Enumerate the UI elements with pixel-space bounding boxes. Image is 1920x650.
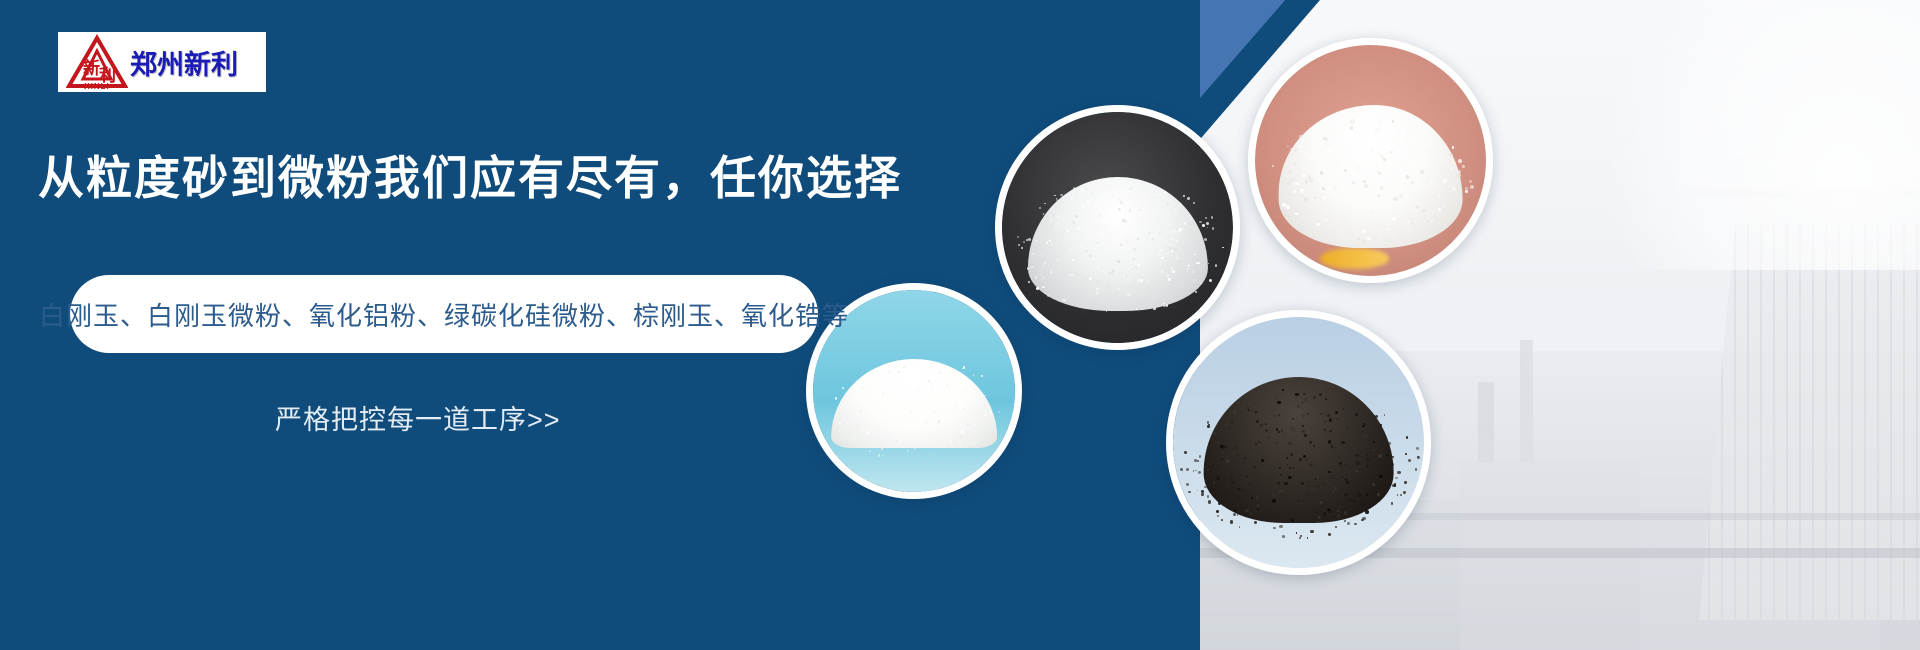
grain-speck — [1211, 216, 1214, 219]
grain-speck — [1148, 232, 1150, 234]
grain-speck — [1142, 290, 1145, 293]
tagline-cta[interactable]: 严格把控每一道工序>> — [275, 398, 561, 437]
grain-speck — [1375, 128, 1379, 132]
grain-speck — [965, 390, 967, 392]
grain-speck — [1310, 530, 1313, 533]
grain-speck — [1021, 247, 1023, 249]
grain-speck — [869, 450, 871, 452]
grain-speck — [1172, 270, 1175, 273]
grain-speck — [851, 422, 853, 424]
grain-speck — [1344, 511, 1347, 514]
grain-speck — [1290, 148, 1292, 150]
grain-speck — [1406, 436, 1409, 439]
grain-speck — [1392, 120, 1395, 123]
grain-speck — [1329, 463, 1331, 465]
grain-speck — [1376, 117, 1378, 119]
grain-speck — [1075, 272, 1078, 275]
grain-speck — [925, 422, 928, 425]
grain-speck — [1392, 217, 1396, 221]
grain-speck — [1322, 456, 1324, 458]
grain-speck — [1106, 284, 1109, 287]
grain-speck — [863, 435, 864, 436]
grain-speck — [1207, 425, 1209, 427]
grain-speck — [1299, 458, 1302, 461]
product-list-pill: 白刚玉、白刚玉微粉、氧化铝粉、绿碳化硅微粉、棕刚玉、氧化锆等 — [70, 275, 818, 353]
grain-speck — [1140, 187, 1142, 189]
grain-speck — [1064, 225, 1066, 227]
grain-speck — [1241, 489, 1243, 491]
grain-speck — [1430, 181, 1433, 184]
company-name-text: 郑州新利 — [130, 43, 238, 82]
grain-speck — [1371, 160, 1374, 163]
grain-speck — [1167, 275, 1169, 277]
grain-speck — [1054, 195, 1056, 197]
grain-speck — [1168, 278, 1171, 281]
grain-speck — [878, 454, 880, 456]
grain-speck — [1193, 202, 1195, 204]
grain-speck — [903, 366, 905, 368]
grain-speck — [1217, 515, 1219, 517]
grain-speck — [1377, 194, 1380, 197]
grain-speck — [1226, 483, 1228, 485]
grain-speck — [1059, 245, 1061, 247]
grain-speck — [1279, 467, 1280, 468]
grain-speck — [1113, 225, 1116, 228]
grain-speck — [1258, 484, 1260, 486]
grain-speck — [928, 380, 930, 382]
grain-speck — [1355, 454, 1358, 457]
grain-speck — [1330, 430, 1331, 431]
grain-speck — [1452, 161, 1455, 164]
grain-speck — [1384, 414, 1385, 415]
grain-speck — [1121, 250, 1123, 252]
grain-speck — [1412, 192, 1414, 194]
grain-speck — [959, 441, 961, 443]
grain-speck — [1413, 164, 1416, 167]
grain-speck — [1245, 509, 1248, 512]
grain-speck — [1137, 264, 1140, 267]
grain-speck — [1254, 521, 1257, 524]
grain-speck — [1314, 197, 1316, 199]
grain-speck — [1226, 459, 1229, 462]
grain-speck — [1207, 495, 1210, 498]
grain-speck — [1289, 171, 1292, 174]
grain-speck — [1204, 486, 1207, 489]
grain-speck — [1373, 449, 1375, 451]
grain-speck — [1392, 456, 1394, 458]
grain-speck — [1155, 296, 1158, 299]
grain-speck — [1051, 244, 1052, 245]
grain-speck — [1116, 219, 1119, 222]
grain-speck — [1187, 197, 1190, 200]
grain-speck — [1199, 221, 1202, 224]
grain-speck — [1379, 475, 1382, 478]
grain-speck — [909, 368, 910, 369]
product-list-text: 白刚玉、白刚玉微粉、氧化铝粉、绿碳化硅微粉、棕刚玉、氧化锆等 — [39, 296, 849, 333]
grain-speck — [1286, 205, 1290, 209]
grain-speck — [1294, 148, 1297, 151]
grain-speck — [1224, 504, 1226, 506]
grain-speck — [1361, 519, 1364, 522]
grain-speck — [1346, 481, 1349, 484]
grain-speck — [1174, 248, 1177, 251]
grain-speck — [1044, 203, 1046, 205]
grain-speck — [1035, 276, 1037, 278]
grain-speck — [1140, 279, 1143, 282]
grain-speck — [1376, 165, 1378, 167]
grain-speck — [1415, 468, 1418, 471]
grain-speck — [1443, 179, 1446, 182]
grain-speck — [1368, 133, 1370, 135]
grain-speck — [1388, 171, 1390, 173]
grain-speck — [984, 395, 986, 397]
grain-speck — [1320, 171, 1324, 175]
grain-speck — [1337, 172, 1339, 174]
grain-speck — [1165, 258, 1167, 260]
grain-speck — [1282, 535, 1285, 538]
grain-speck — [943, 429, 945, 431]
grain-speck — [835, 397, 837, 399]
svg-text:XINLI: XINLI — [84, 82, 109, 90]
grain-speck — [908, 426, 909, 427]
grain-speck — [1288, 442, 1291, 445]
grain-speck — [1390, 151, 1392, 153]
grain-speck — [1236, 453, 1239, 456]
grain-speck — [932, 433, 933, 434]
grain-speck — [1215, 265, 1217, 267]
grain-speck — [1255, 411, 1257, 413]
grain-speck — [1403, 491, 1406, 494]
grain-speck — [842, 387, 844, 389]
grain-speck — [1028, 281, 1030, 283]
grain-speck — [1295, 213, 1297, 215]
grain-speck — [1335, 526, 1337, 528]
product-photo-white-micropowder — [1255, 45, 1486, 276]
grain-speck — [1364, 184, 1368, 188]
grain-speck — [1287, 182, 1290, 185]
plate-accent — [1320, 248, 1389, 269]
grain-speck — [1193, 279, 1196, 282]
grain-speck — [1141, 220, 1142, 221]
grain-speck — [1201, 493, 1204, 496]
grain-speck — [861, 386, 863, 388]
grain-speck — [1311, 488, 1314, 491]
grain-speck — [1341, 136, 1344, 139]
grain-speck — [914, 416, 916, 418]
grain-speck — [1220, 445, 1223, 448]
grain-speck — [963, 408, 965, 410]
grain-speck — [1086, 273, 1089, 276]
grain-speck — [1130, 226, 1131, 227]
grain-speck — [882, 455, 884, 457]
grain-speck — [1233, 513, 1236, 516]
grain-speck — [1337, 163, 1340, 166]
grain-speck — [922, 392, 924, 394]
triangle-mark-icon: 新 利 XINLI — [66, 34, 128, 90]
grain-speck — [1272, 165, 1274, 167]
grain-speck — [1379, 454, 1383, 458]
grain-speck — [1316, 223, 1320, 227]
powder-heap — [1027, 177, 1207, 311]
grain-speck — [1324, 421, 1326, 423]
grain-speck — [933, 439, 934, 440]
grain-speck — [1116, 193, 1118, 195]
grain-speck — [1322, 187, 1325, 190]
grain-speck — [1184, 451, 1187, 454]
grain-speck — [1416, 447, 1419, 450]
grain-speck — [1230, 520, 1233, 523]
grain-speck — [1087, 279, 1089, 281]
grain-speck — [1234, 446, 1237, 449]
grain-speck — [1163, 305, 1165, 307]
grain-speck — [1404, 183, 1406, 185]
grain-speck — [990, 411, 992, 413]
grain-speck — [1290, 453, 1293, 456]
grain-speck — [1126, 240, 1128, 242]
grain-speck — [1213, 442, 1215, 444]
grain-speck — [1081, 246, 1082, 247]
grain-speck — [1404, 481, 1407, 484]
grain-speck — [1458, 159, 1462, 163]
grain-speck — [1182, 280, 1184, 282]
grain-speck — [929, 455, 931, 457]
grain-speck — [1202, 224, 1205, 227]
grain-speck — [1108, 272, 1111, 275]
grain-speck — [1377, 493, 1380, 496]
company-logo[interactable]: 新 利 XINLI 郑州新利 — [58, 32, 266, 92]
grain-speck — [1365, 510, 1369, 514]
grain-speck — [1031, 266, 1033, 268]
grain-speck — [1304, 434, 1307, 437]
grain-speck — [938, 420, 940, 422]
grain-speck — [1370, 150, 1373, 153]
grain-speck — [1072, 259, 1073, 260]
grain-speck — [1158, 252, 1161, 255]
grain-speck — [1420, 170, 1424, 174]
grain-speck — [907, 450, 909, 452]
grain-speck — [1092, 258, 1094, 260]
grain-speck — [887, 370, 889, 372]
grain-speck — [965, 399, 967, 401]
grain-speck — [1453, 206, 1455, 208]
grain-speck — [963, 366, 965, 368]
grain-speck — [1207, 227, 1208, 228]
grain-speck — [910, 433, 912, 435]
grain-speck — [1414, 138, 1416, 140]
grain-speck — [1422, 209, 1426, 213]
grain-speck — [1431, 220, 1433, 222]
grain-speck — [1047, 294, 1050, 297]
grain-speck — [1017, 236, 1019, 238]
grain-speck — [1354, 523, 1356, 525]
grain-speck — [1166, 304, 1169, 307]
grain-speck — [962, 368, 963, 369]
powder-heap — [831, 359, 997, 448]
promo-banner: 新 利 XINLI 郑州新利 从粒度砂到微粉我们应有尽有，任你选择 白刚玉、白刚… — [0, 0, 1920, 650]
grain-speck — [946, 384, 948, 386]
grain-speck — [1103, 298, 1105, 300]
grain-speck — [1301, 401, 1304, 404]
grain-speck — [1465, 187, 1467, 189]
grain-speck — [1380, 186, 1383, 189]
grain-speck — [853, 437, 855, 439]
grain-speck — [1123, 275, 1125, 277]
grain-speck — [1222, 247, 1223, 248]
grain-speck — [1309, 179, 1313, 183]
grain-speck — [1196, 262, 1199, 265]
grain-speck — [1169, 244, 1171, 246]
grain-speck — [876, 382, 878, 384]
grain-speck — [967, 424, 969, 426]
grain-speck — [1313, 396, 1316, 399]
grain-speck — [1187, 271, 1188, 272]
grain-speck — [914, 447, 916, 449]
grain-speck — [1457, 174, 1460, 177]
grain-speck — [1249, 407, 1252, 410]
grain-speck — [1279, 525, 1283, 529]
grain-speck — [1018, 244, 1020, 246]
grain-speck — [1347, 154, 1350, 157]
grain-speck — [1465, 190, 1468, 193]
grain-speck — [974, 442, 976, 444]
grain-speck — [922, 381, 923, 382]
grain-speck — [1307, 537, 1309, 539]
grain-speck — [1328, 533, 1331, 536]
grain-speck — [1096, 280, 1098, 282]
grain-speck — [921, 410, 923, 412]
grain-speck — [981, 375, 983, 377]
grain-speck — [1253, 452, 1255, 454]
grain-speck — [1406, 175, 1410, 179]
grain-speck — [1077, 227, 1079, 229]
grain-speck — [1097, 226, 1100, 229]
grain-speck — [1111, 272, 1114, 275]
grain-speck — [1258, 441, 1260, 443]
grain-speck — [916, 456, 917, 457]
grain-speck — [1156, 231, 1158, 233]
grain-speck — [1127, 204, 1129, 206]
grain-speck — [1405, 453, 1407, 455]
grain-speck — [1347, 522, 1350, 525]
grain-speck — [1251, 497, 1253, 499]
grain-speck — [1256, 420, 1259, 423]
grain-speck — [1375, 415, 1378, 418]
grain-speck — [1352, 181, 1355, 184]
grain-speck — [1086, 250, 1088, 252]
grain-speck — [1164, 215, 1167, 218]
grain-speck — [1274, 415, 1276, 417]
grain-speck — [1161, 230, 1162, 231]
grain-speck — [1265, 423, 1267, 425]
grain-speck — [1427, 220, 1430, 223]
grain-speck — [881, 447, 883, 449]
grain-speck — [1097, 242, 1099, 244]
grain-speck — [1317, 485, 1319, 487]
grain-speck — [1050, 218, 1052, 220]
grain-speck — [1292, 418, 1294, 420]
grain-speck — [1186, 468, 1189, 471]
grain-speck — [1415, 215, 1417, 217]
grain-speck — [1393, 197, 1397, 201]
grain-speck — [959, 436, 960, 437]
grain-speck — [1313, 445, 1315, 447]
grain-speck — [1303, 393, 1305, 395]
grain-speck — [1204, 238, 1207, 241]
grain-speck — [1411, 222, 1414, 225]
grain-speck — [1333, 185, 1337, 189]
grain-speck — [844, 419, 846, 421]
grain-speck — [1233, 410, 1237, 414]
grain-speck — [1188, 265, 1190, 267]
grain-speck — [1337, 468, 1339, 470]
grain-speck — [1046, 242, 1048, 244]
grain-speck — [1295, 182, 1298, 185]
grain-speck — [1332, 474, 1335, 477]
grain-speck — [1337, 418, 1339, 420]
grain-speck — [1198, 471, 1201, 474]
grain-speck — [1284, 410, 1285, 411]
grain-speck — [1231, 421, 1233, 423]
grain-speck — [947, 404, 949, 406]
grain-speck — [1380, 229, 1383, 232]
grain-speck — [1290, 178, 1294, 182]
product-photo-black-grit — [1173, 317, 1424, 568]
grain-speck — [1316, 521, 1318, 523]
grain-speck — [973, 374, 975, 376]
grain-speck — [1333, 447, 1336, 450]
grain-speck — [1179, 228, 1182, 231]
grain-speck — [1356, 461, 1359, 464]
grain-speck — [1344, 493, 1347, 496]
grain-speck — [1180, 468, 1183, 471]
grain-speck — [1056, 292, 1057, 293]
grain-speck — [1438, 208, 1441, 211]
grain-speck — [1164, 191, 1167, 194]
grain-speck — [871, 371, 873, 373]
grain-speck — [1189, 254, 1191, 256]
grain-speck — [1400, 494, 1402, 496]
grain-speck — [1411, 181, 1413, 183]
grain-speck — [1323, 412, 1326, 415]
grain-speck — [850, 420, 851, 421]
grain-speck — [1183, 195, 1184, 196]
grain-speck — [936, 441, 938, 443]
grain-speck — [1132, 268, 1133, 269]
grain-speck — [1101, 234, 1102, 235]
grain-speck — [867, 431, 870, 434]
grain-speck — [1122, 219, 1125, 222]
grain-speck — [1265, 429, 1268, 432]
grain-speck — [1342, 167, 1345, 170]
grain-speck — [998, 411, 1000, 413]
grain-speck — [1135, 266, 1136, 267]
grain-speck — [1209, 279, 1212, 282]
grain-speck — [1339, 230, 1342, 233]
grain-speck — [1304, 398, 1308, 402]
grain-speck — [1438, 195, 1440, 197]
grain-speck — [1344, 520, 1346, 522]
grain-speck — [1299, 135, 1302, 138]
grain-speck — [1039, 207, 1041, 209]
grain-speck — [1206, 222, 1209, 225]
grain-speck — [1325, 398, 1327, 400]
grain-speck — [1111, 186, 1112, 187]
grain-speck — [1195, 291, 1197, 293]
grain-speck — [1032, 253, 1034, 255]
grain-speck — [1208, 500, 1212, 504]
grain-speck — [1457, 170, 1461, 174]
grain-speck — [1300, 165, 1304, 169]
